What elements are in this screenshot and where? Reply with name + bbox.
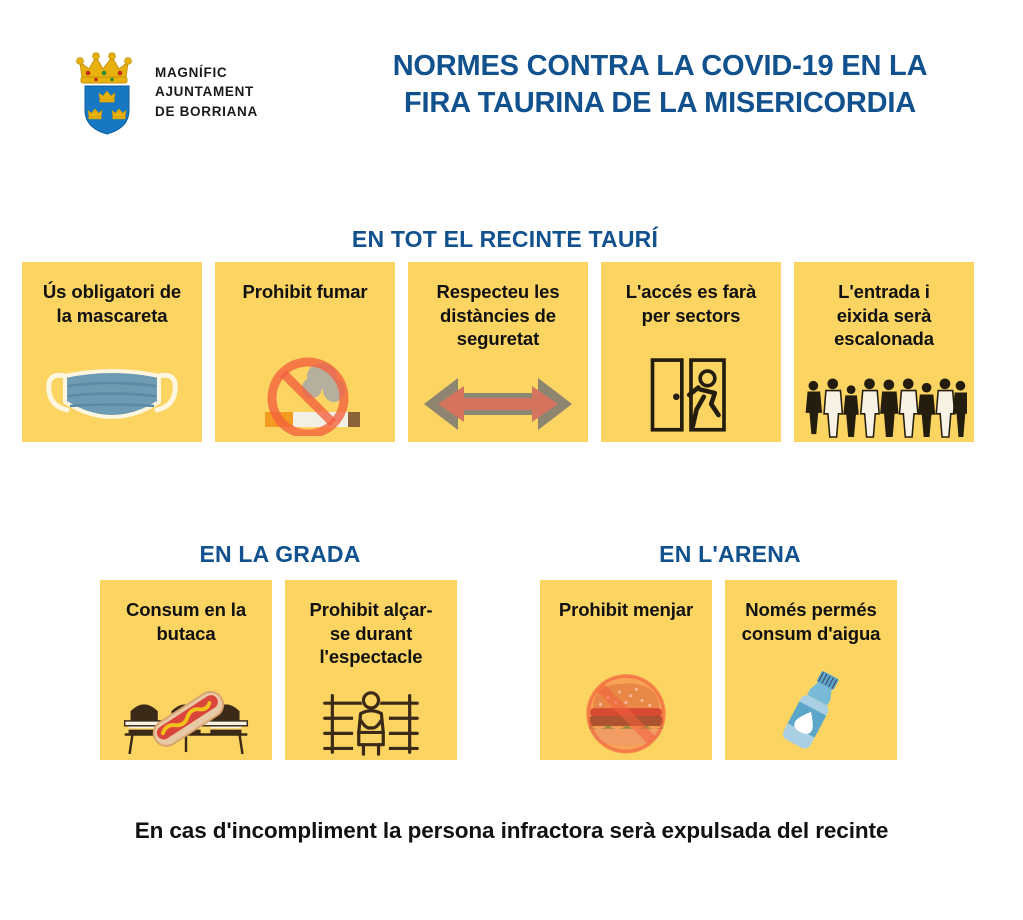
rule-card-label: L'accés es farà per sectors [601, 280, 781, 327]
no-burger-icon [540, 668, 712, 754]
people-queue-icon [794, 352, 974, 438]
rule-card: Prohibit menjar [540, 580, 712, 760]
logo-text: MAGNÍFIC AJUNTAMENT DE BORRIANA [155, 63, 258, 120]
section-heading-arena: EN L'ARENA [540, 541, 920, 568]
rule-card-label: Respecteu les distàncies de seguretat [408, 280, 588, 351]
section-heading-recinte: EN TOT EL RECINTE TAURÍ [0, 226, 1010, 253]
rule-card-label: Només permés consum d'aigua [725, 598, 897, 645]
rule-card: Prohibit alçar- se durant l'espectacle [285, 580, 457, 760]
rule-card-label: Consum en la butaca [100, 598, 272, 645]
rule-card-label: Prohibit alçar- se durant l'espectacle [285, 598, 457, 669]
footer-notice: En cas d'incompliment la persona infract… [0, 818, 1023, 844]
no-smoking-icon [215, 350, 395, 436]
rule-card: Només permés consum d'aigua [725, 580, 897, 760]
rule-card: L'accés es farà per sectors [601, 262, 781, 442]
water-bottle-icon [725, 668, 897, 754]
page-title: NORMES CONTRA LA COVID-19 EN LA FIRA TAU… [340, 48, 980, 122]
card-row-grada: Consum en la butaca [100, 580, 457, 760]
card-row-arena: Prohibit menjar Nomé [540, 580, 897, 760]
borriana-coat-of-arms-icon [72, 48, 142, 136]
card-row-recinte: Ús obligatori de la mascareta Prohibit f… [22, 262, 974, 442]
rule-card-label: L'entrada i eixida serà escalonada [794, 280, 974, 351]
seated-person-icon [285, 670, 457, 756]
seats-hotdog-icon [100, 670, 272, 756]
rule-card: Ús obligatori de la mascareta [22, 262, 202, 442]
rule-card: Prohibit fumar [215, 262, 395, 442]
double-arrow-distance-icon [408, 350, 588, 436]
door-exit-icon [601, 350, 781, 436]
face-mask-icon [22, 350, 202, 436]
section-heading-grada: EN LA GRADA [90, 541, 470, 568]
logo-block: MAGNÍFIC AJUNTAMENT DE BORRIANA [72, 48, 258, 136]
rule-card: Respecteu les distàncies de seguretat [408, 262, 588, 442]
rule-card-label: Prohibit menjar [540, 598, 712, 622]
rule-card: Consum en la butaca [100, 580, 272, 760]
rule-card: L'entrada i eixida serà escalonada [794, 262, 974, 442]
header: MAGNÍFIC AJUNTAMENT DE BORRIANA NORMES C… [0, 0, 1023, 160]
rule-card-label: Prohibit fumar [215, 280, 395, 304]
rule-card-label: Ús obligatori de la mascareta [22, 280, 202, 327]
